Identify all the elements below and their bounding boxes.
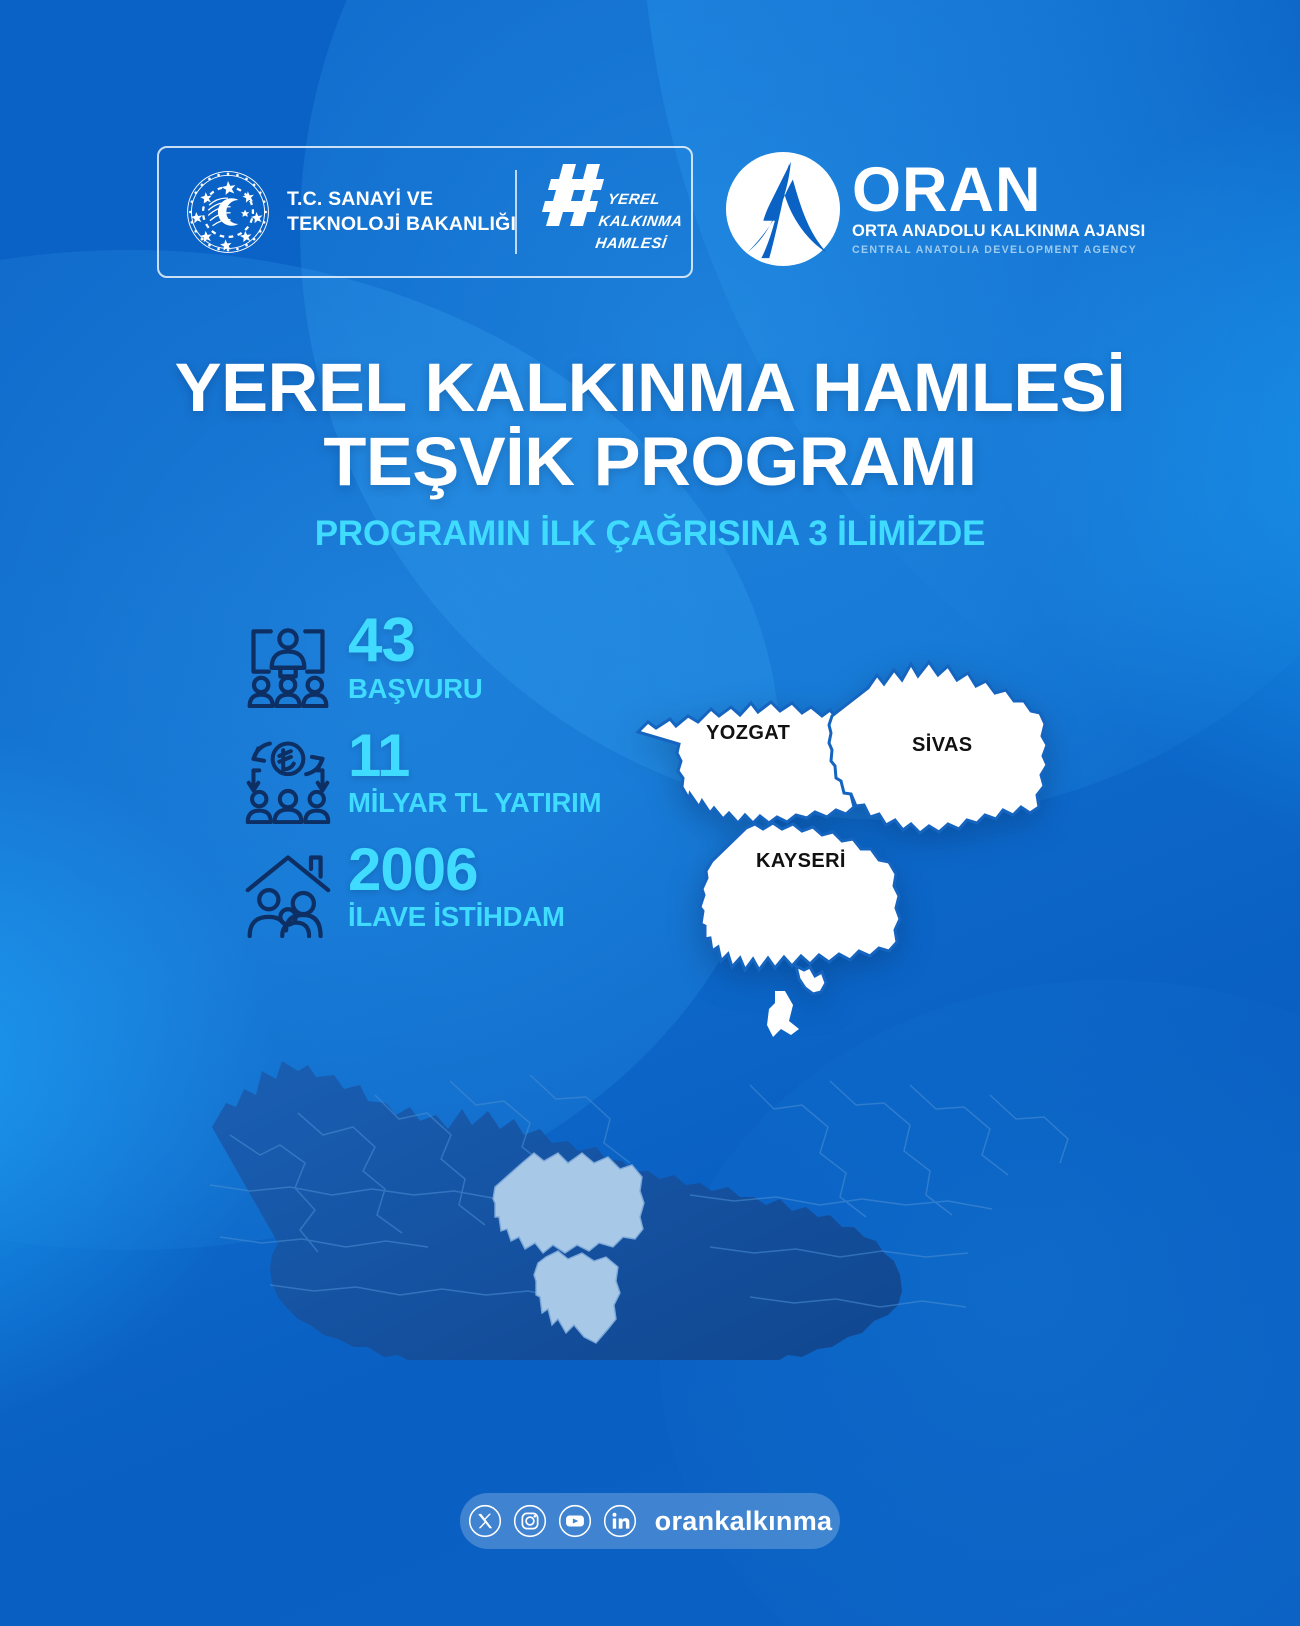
ministry-logo-box: T.C. SANAYİ VE TEKNOLOJİ BAKANLIĞI YEREL…	[157, 146, 693, 278]
headline-line1: YEREL KALKINMA HAMLESİ	[0, 352, 1300, 424]
headline-line2: TEŞVİK PROGRAMI	[0, 426, 1300, 498]
agency-text: ORAN ORTA ANADOLU KALKINMA AJANSI CENTRA…	[852, 162, 1145, 256]
stat-text: 11 MİLYAR TL YATIRIM	[348, 728, 601, 819]
stat-text: 43 BAŞVURU	[348, 612, 483, 705]
province-label-kayseri: KAYSERİ	[756, 850, 846, 873]
stat-label: BAŞVURU	[348, 673, 483, 705]
stats-list: 43 BAŞVURU	[236, 612, 656, 954]
ministry-name-line2: TEKNOLOJİ BAKANLIĞI	[287, 212, 516, 237]
headline-subtitle: PROGRAMIN İLK ÇAĞRISINA 3 İLİMİZDE	[0, 514, 1300, 554]
poster-canvas: T.C. SANAYİ VE TEKNOLOJİ BAKANLIĞI YEREL…	[0, 0, 1300, 1626]
tr72-region-shape	[600, 592, 1140, 1012]
headline-block: YEREL KALKINMA HAMLESİ TEŞVİK PROGRAMI P…	[0, 352, 1300, 554]
region-map: YOZGAT SİVAS KAYSERİ	[600, 592, 1140, 1012]
campaign-logo: YEREL KALKINMA HAMLESİ	[541, 162, 681, 262]
yerel-kalkinma-hamlesi-icon: YEREL KALKINMA HAMLESİ	[541, 162, 681, 262]
turkish-ministry-seal-icon	[185, 169, 271, 255]
cyprus-shape	[767, 991, 799, 1037]
social-bar[interactable]: orankalkınma	[460, 1493, 840, 1549]
stat-text: 2006 İLAVE İSTİHDAM	[348, 842, 565, 933]
province-shape-yozgat	[638, 702, 857, 823]
ministry-name-line1: T.C. SANAYİ VE	[287, 187, 516, 212]
agency-subtitle-en: CENTRAL ANATOLIA DEVELOPMENT AGENCY	[852, 244, 1145, 256]
youtube-icon[interactable]	[558, 1504, 592, 1538]
linkedin-icon[interactable]	[603, 1504, 637, 1538]
stat-value: 2006	[348, 842, 565, 897]
stat-item-applications: 43 BAŞVURU	[236, 612, 656, 724]
presentation-audience-icon	[240, 616, 336, 708]
stat-value: 11	[348, 728, 601, 783]
svg-text:HAMLESİ: HAMLESİ	[594, 235, 668, 252]
instagram-icon[interactable]	[513, 1504, 547, 1538]
turkey-silhouette	[150, 985, 1160, 1360]
province-label-sivas: SİVAS	[912, 734, 973, 757]
x-twitter-icon[interactable]	[468, 1504, 502, 1538]
province-label-yozgat: YOZGAT	[706, 722, 790, 745]
province-shape-kayseri	[700, 823, 900, 970]
svg-text:KALKINMA: KALKINMA	[597, 213, 681, 230]
svg-text:YEREL: YEREL	[607, 191, 662, 208]
house-family-icon	[240, 846, 336, 938]
agency-name: ORAN	[852, 162, 1145, 220]
lira-circulation-people-icon	[240, 732, 336, 824]
stat-label: MİLYAR TL YATIRIM	[348, 787, 601, 819]
oran-swift-mark-icon	[724, 150, 842, 268]
stat-item-investment: 11 MİLYAR TL YATIRIM	[236, 728, 656, 840]
stat-value: 43	[348, 612, 483, 669]
agency-logo: ORAN ORTA ANADOLU KALKINMA AJANSI CENTRA…	[724, 150, 1145, 268]
ministry-name: T.C. SANAYİ VE TEKNOLOJİ BAKANLIĞI	[287, 187, 516, 237]
ministry-logo: T.C. SANAYİ VE TEKNOLOJİ BAKANLIĞI	[159, 169, 516, 255]
agency-subtitle-tr: ORTA ANADOLU KALKINMA AJANSI	[852, 222, 1145, 241]
stat-label: İLAVE İSTİHDAM	[348, 901, 565, 933]
header-logo-row: T.C. SANAYİ VE TEKNOLOJİ BAKANLIĞI YEREL…	[0, 146, 1300, 281]
turkey-map	[150, 985, 1160, 1360]
social-handle[interactable]: orankalkınma	[655, 1506, 833, 1537]
stat-item-employment: 2006 İLAVE İSTİHDAM	[236, 842, 656, 954]
logo-divider	[515, 170, 517, 254]
